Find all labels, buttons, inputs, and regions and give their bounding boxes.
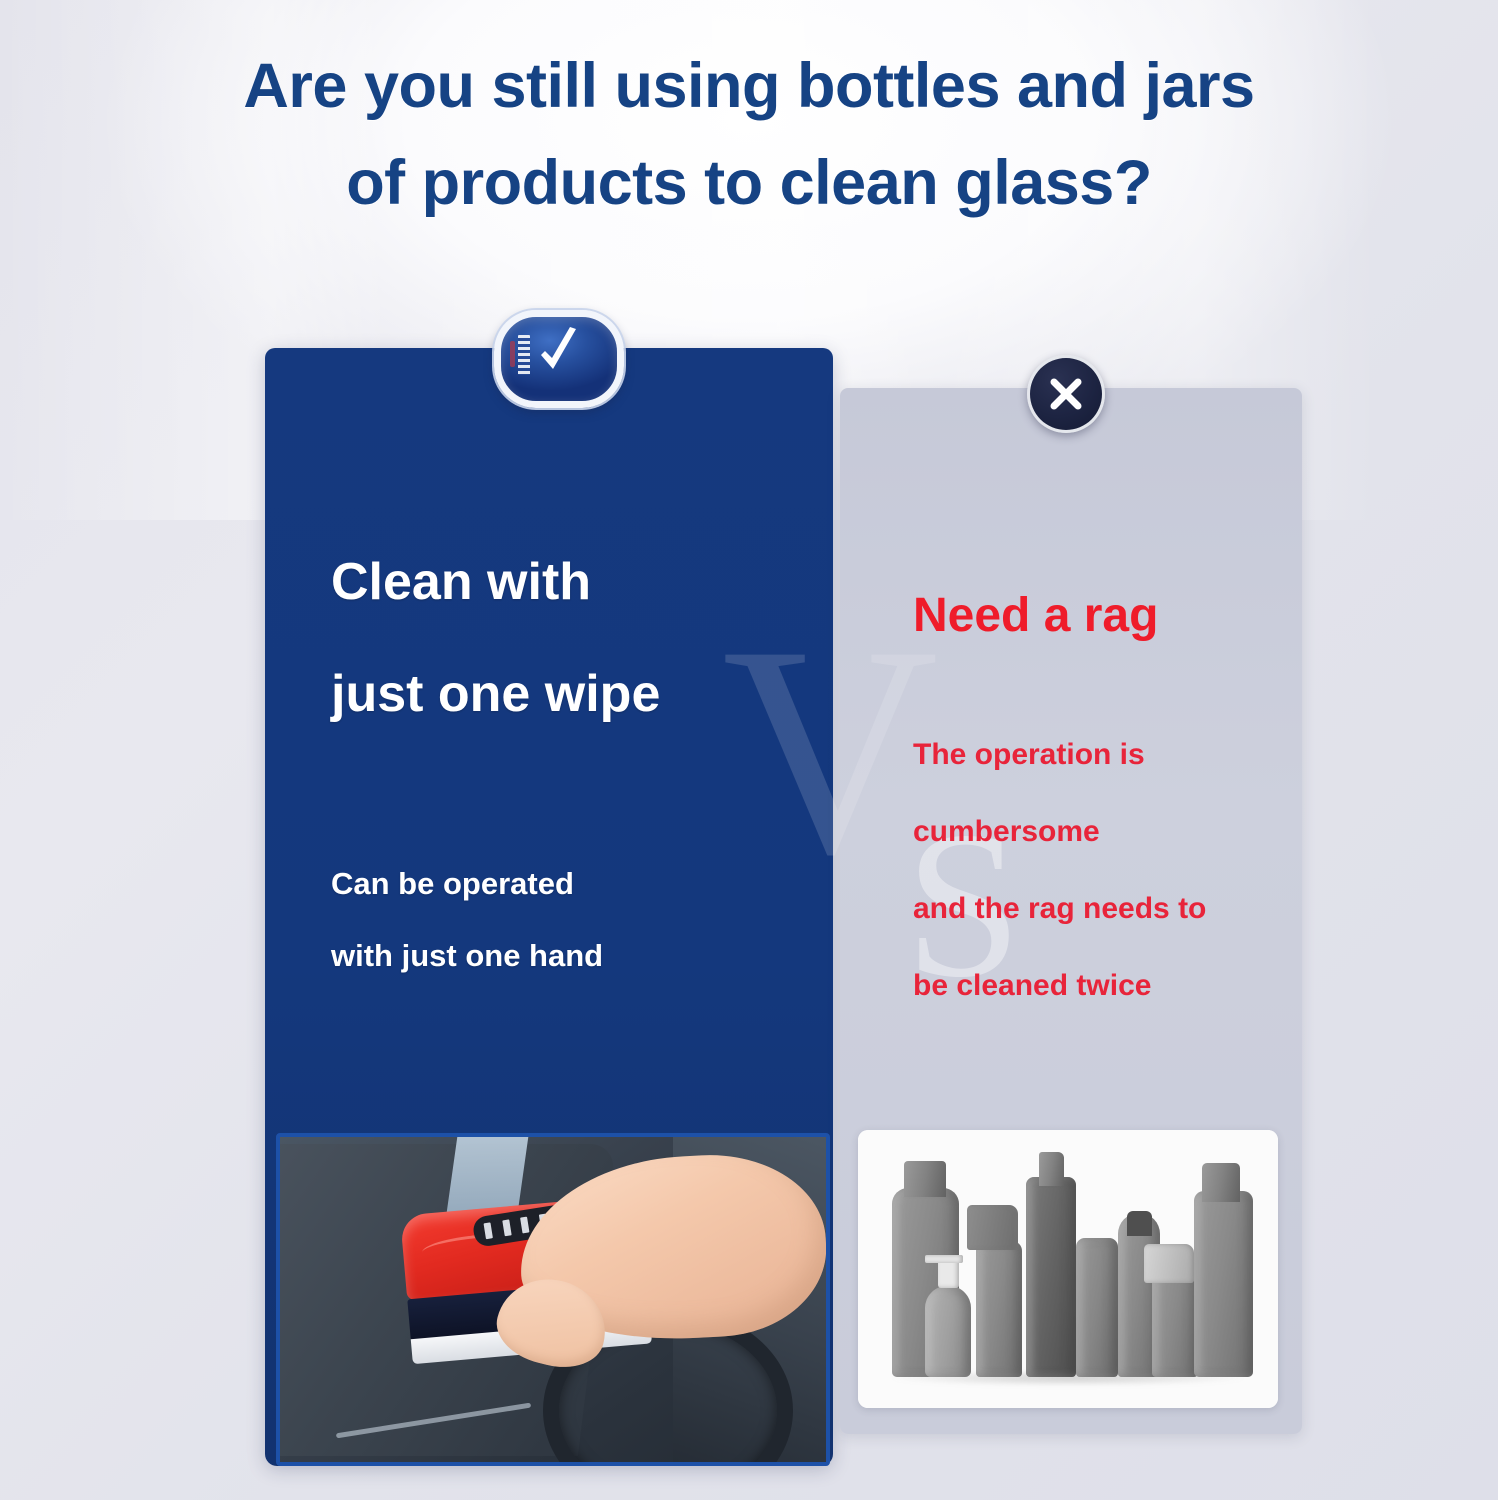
bad-body-line-2: cumbersome	[913, 817, 1313, 847]
bad-card-photo	[858, 1130, 1278, 1408]
product-comparison-poster: Are you still using bottles and jars of …	[0, 0, 1498, 1500]
bottle-cap-right	[1202, 1163, 1240, 1202]
headline-line-1: Are you still using bottles and jars	[0, 46, 1498, 127]
bottle-cap-bullet	[1127, 1211, 1152, 1236]
bottle-jug-right	[1194, 1191, 1253, 1377]
bottle-spray-1	[976, 1241, 1022, 1377]
checkmark-icon	[537, 325, 579, 381]
good-card-subtitle: Can be operated with just one hand	[331, 868, 771, 971]
spray-trigger-1	[967, 1205, 1017, 1249]
check-badge-icon	[494, 310, 624, 408]
bottle-can-center	[1076, 1238, 1118, 1377]
good-title-line-1: Clean with	[331, 553, 591, 611]
bad-body-line-1: The operation is	[913, 740, 1313, 770]
bottle-spray-2	[1152, 1272, 1198, 1378]
good-subtitle-line-1: Can be operated	[331, 866, 574, 901]
car-interior-scene	[280, 1137, 826, 1462]
spray-trigger-2	[1144, 1244, 1194, 1283]
headline-line-2: of products to clean glass?	[0, 143, 1498, 224]
bad-body-line-4: be cleaned twice	[913, 971, 1313, 1001]
badge-red-stripe	[510, 341, 515, 367]
badge-bar-pattern	[518, 335, 530, 375]
bottle-cap-dark	[1039, 1152, 1064, 1185]
bad-card-body: The operation is cumbersome and the rag …	[913, 740, 1313, 1001]
pump-spout	[925, 1255, 963, 1263]
bottle-tall-dark	[1026, 1177, 1076, 1377]
good-card-photo	[276, 1133, 830, 1466]
bottle-pump-soap	[925, 1286, 971, 1378]
bottle-cap-left	[904, 1161, 946, 1197]
page-title: Are you still using bottles and jars of …	[0, 46, 1498, 223]
bottles-group	[858, 1130, 1278, 1408]
good-subtitle-line-2: with just one hand	[331, 940, 771, 971]
good-title-line-2: just one wipe	[331, 668, 771, 720]
good-card-title: Clean with just one wipe	[331, 556, 771, 720]
bad-body-line-3: and the rag needs to	[913, 894, 1313, 924]
x-badge-icon	[1027, 355, 1105, 433]
bad-card-title: Need a rag	[913, 592, 1313, 640]
close-icon	[1045, 373, 1087, 415]
